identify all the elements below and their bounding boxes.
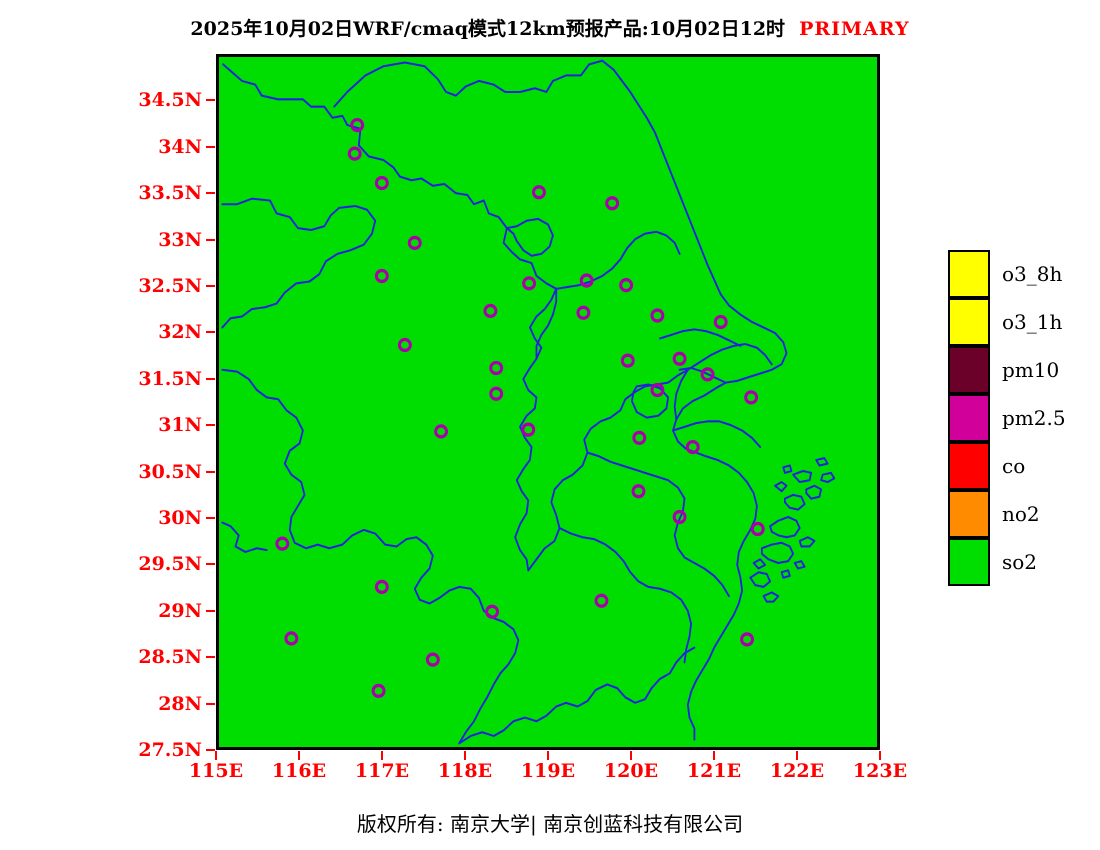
station-marker[interactable] — [436, 426, 447, 437]
y-axis-tick — [206, 192, 215, 194]
station-marker[interactable] — [487, 606, 498, 617]
y-axis-tick — [206, 239, 215, 241]
x-axis-tick-label: 118E — [438, 760, 492, 782]
x-axis-tick-label: 121E — [687, 760, 741, 782]
y-axis-tick — [206, 656, 215, 658]
x-axis-tick-label: 120E — [604, 760, 658, 782]
y-axis-tick-label: 33.5N — [138, 182, 202, 204]
station-marker[interactable] — [596, 595, 607, 606]
legend-swatch — [948, 346, 990, 394]
station-marker[interactable] — [376, 581, 387, 592]
x-axis-tick — [630, 751, 632, 760]
x-axis-tick — [215, 751, 217, 760]
y-axis-tick-label: 32N — [158, 321, 202, 343]
map-geometry — [222, 61, 834, 744]
legend-label: no2 — [1002, 502, 1040, 526]
y-axis-tick-label: 28.5N — [138, 646, 202, 668]
station-marker[interactable] — [491, 388, 502, 399]
y-axis-tick-label: 34N — [158, 136, 202, 158]
x-axis-tick — [879, 751, 881, 760]
y-axis-tick — [206, 378, 215, 380]
legend-label: o3_1h — [1002, 310, 1062, 334]
station-marker[interactable] — [352, 120, 363, 131]
title-main-text: 2025年10月02日WRF/cmaq模式12km预报产品:10月02日12时 — [190, 18, 785, 40]
legend-label: o3_8h — [1002, 262, 1062, 286]
y-axis-tick — [206, 610, 215, 612]
page-title: 2025年10月02日WRF/cmaq模式12km预报产品:10月02日12时P… — [0, 14, 1100, 41]
map-canvas — [219, 57, 877, 747]
x-axis-tick — [547, 751, 549, 760]
y-axis-tick — [206, 517, 215, 519]
legend-swatch — [948, 250, 990, 298]
station-marker[interactable] — [491, 363, 502, 374]
station-marker[interactable] — [427, 654, 438, 665]
y-axis-tick-label: 30N — [158, 507, 202, 529]
copyright-text: 版权所有: 南京大学| 南京创蓝科技有限公司 — [357, 812, 743, 836]
station-marker[interactable] — [607, 198, 618, 209]
station-marker[interactable] — [621, 280, 632, 291]
station-marker[interactable] — [578, 307, 589, 318]
legend-swatch — [948, 298, 990, 346]
station-marker[interactable] — [523, 424, 534, 435]
y-axis-tick — [206, 703, 215, 705]
y-axis-tick — [206, 99, 215, 101]
y-axis-tick-label: 31N — [158, 414, 202, 436]
y-axis-tick-label: 32.5N — [138, 275, 202, 297]
legend-swatch — [948, 442, 990, 490]
station-marker[interactable] — [286, 633, 297, 644]
station-marker[interactable] — [674, 353, 685, 364]
station-marker[interactable] — [349, 148, 360, 159]
x-axis-tick-label: 116E — [272, 760, 326, 782]
legend-swatch — [948, 394, 990, 442]
station-marker[interactable] — [687, 442, 698, 453]
legend-label: pm2.5 — [1002, 406, 1066, 430]
x-axis-tick-label: 122E — [770, 760, 824, 782]
station-marker[interactable] — [633, 486, 644, 497]
legend-label: so2 — [1002, 550, 1037, 574]
x-axis-tick — [381, 751, 383, 760]
y-axis-tick-label: 29N — [158, 600, 202, 622]
legend-label: co — [1002, 454, 1025, 478]
x-axis-tick-label: 115E — [189, 760, 243, 782]
y-axis-tick — [206, 331, 215, 333]
x-axis-tick — [464, 751, 466, 760]
x-axis-tick — [796, 751, 798, 760]
x-axis-tick-label: 119E — [521, 760, 575, 782]
y-axis-tick — [206, 563, 215, 565]
y-axis-tick-label: 27.5N — [138, 739, 202, 761]
y-axis-tick-label: 28N — [158, 693, 202, 715]
x-axis-tick — [298, 751, 300, 760]
y-axis-tick-label: 33N — [158, 229, 202, 251]
x-axis-tick-label: 117E — [355, 760, 409, 782]
y-axis-tick — [206, 424, 215, 426]
station-marker[interactable] — [742, 634, 753, 645]
legend-swatch — [948, 538, 990, 586]
y-axis-tick-label: 29.5N — [138, 553, 202, 575]
station-marker[interactable] — [524, 278, 535, 289]
station-marker[interactable] — [534, 187, 545, 198]
station-marker[interactable] — [715, 317, 726, 328]
station-marker[interactable] — [376, 178, 387, 189]
station-marker[interactable] — [746, 392, 757, 403]
station-marker[interactable] — [277, 538, 288, 549]
station-marker[interactable] — [376, 271, 387, 282]
station-marker[interactable] — [409, 237, 420, 248]
y-axis-tick — [206, 749, 215, 751]
station-marker[interactable] — [652, 310, 663, 321]
footer: 版权所有: 南京大学| 南京创蓝科技有限公司 — [0, 808, 1100, 837]
station-marker[interactable] — [373, 685, 384, 696]
map-plot-area[interactable] — [216, 54, 880, 750]
y-axis-tick — [206, 146, 215, 148]
station-marker[interactable] — [399, 340, 410, 351]
station-marker[interactable] — [634, 432, 645, 443]
legend-swatch — [948, 490, 990, 538]
station-marker[interactable] — [622, 355, 633, 366]
y-axis-tick-label: 31.5N — [138, 368, 202, 390]
y-axis-tick — [206, 285, 215, 287]
y-axis-tick-label: 30.5N — [138, 461, 202, 483]
x-axis-tick-label: 123E — [853, 760, 907, 782]
legend-label: pm10 — [1002, 358, 1059, 382]
title-primary-tag: PRIMARY — [799, 18, 910, 40]
y-axis-tick-label: 34.5N — [138, 89, 202, 111]
station-marker[interactable] — [485, 305, 496, 316]
y-axis-tick — [206, 471, 215, 473]
station-marker[interactable] — [752, 524, 763, 535]
x-axis-tick — [713, 751, 715, 760]
